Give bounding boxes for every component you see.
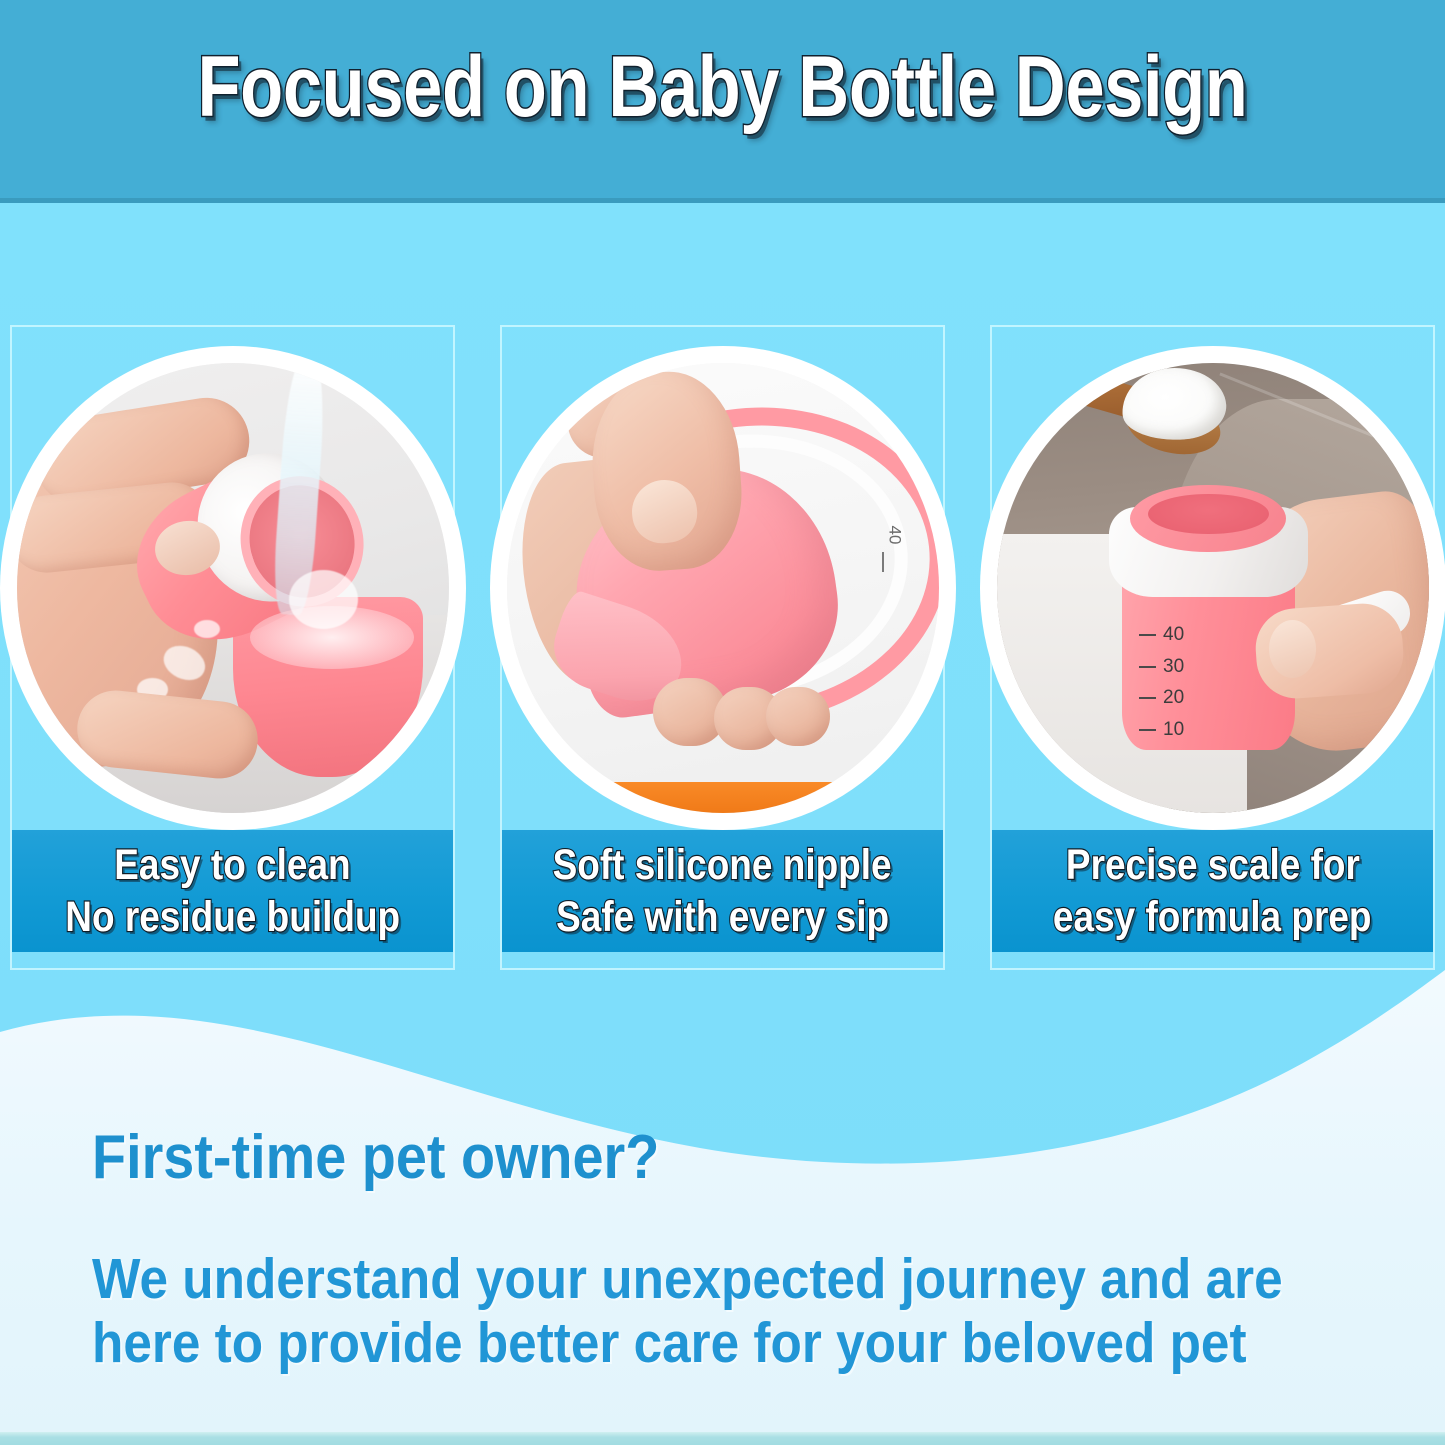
scene-formula-prep: 40 30 20 10 bbox=[997, 363, 1429, 813]
scale-mark-40: 40 bbox=[884, 526, 904, 545]
caption-line-2: easy formula prep bbox=[1053, 891, 1372, 943]
fingernail bbox=[1269, 620, 1317, 679]
footer-paragraph: We understand your unexpected journey an… bbox=[92, 1248, 1244, 1376]
footer-paragraph-line-2: here to provide better care for your bel… bbox=[92, 1312, 1244, 1376]
scale-row-20: 20 bbox=[1139, 687, 1269, 709]
bottom-accent-strip bbox=[0, 1432, 1445, 1445]
scale-row-10: 10 bbox=[1139, 719, 1269, 741]
scene-squeezing-nipple: 40 bbox=[507, 363, 939, 813]
caption-line-1: Precise scale for bbox=[1066, 839, 1360, 891]
scene-washing-bottle bbox=[17, 363, 449, 813]
scale-mark-value: 10 bbox=[1163, 719, 1184, 741]
measuring-scale: 40 30 20 10 bbox=[1139, 624, 1269, 741]
scale-tick-icon bbox=[1139, 666, 1156, 668]
feature-card-row: Easy to clean No residue buildup bbox=[0, 325, 1445, 985]
feature-card-precise-scale[interactable]: 40 30 20 10 bbox=[990, 325, 1435, 970]
scale-row-40: 40 bbox=[1139, 624, 1269, 646]
footer-paragraph-line-1: We understand your unexpected journey an… bbox=[92, 1248, 1244, 1312]
scale-tick-icon bbox=[1139, 697, 1156, 699]
caption-line-2: Safe with every sip bbox=[556, 891, 889, 943]
caption-line-1: Soft silicone nipple bbox=[553, 839, 892, 891]
water-splash bbox=[194, 620, 220, 638]
feature-photo-wrap-2: 40 bbox=[507, 363, 939, 813]
caption-bar-soft-nipple: Soft silicone nipple Safe with every sip bbox=[502, 830, 943, 952]
knuckle bbox=[766, 687, 831, 746]
scale-mark-value: 20 bbox=[1163, 687, 1184, 709]
scale-tick-icon bbox=[1139, 634, 1156, 636]
bottle-opening bbox=[1148, 494, 1269, 535]
scale-tick-line bbox=[882, 552, 884, 572]
feature-card-soft-nipple[interactable]: 40 Soft silicone nipple Safe with every … bbox=[500, 325, 945, 970]
photo-circle-soft-nipple: 40 bbox=[507, 363, 939, 813]
scale-mark-value: 30 bbox=[1163, 656, 1184, 678]
footer-heading: First-time pet owner? bbox=[92, 1125, 1244, 1190]
caption-line-1: Easy to clean bbox=[114, 839, 350, 891]
feature-card-easy-to-clean[interactable]: Easy to clean No residue buildup bbox=[10, 325, 455, 970]
orange-surface-strip bbox=[584, 782, 860, 814]
photo-circle-easy-to-clean bbox=[17, 363, 449, 813]
caption-bar-precise-scale: Precise scale for easy formula prep bbox=[992, 830, 1433, 952]
product-infographic: Focused on Baby Bottle Design bbox=[0, 0, 1445, 1445]
feature-photo-wrap-1 bbox=[17, 363, 449, 813]
caption-line-2: No residue buildup bbox=[65, 891, 400, 943]
caption-bar-easy-to-clean: Easy to clean No residue buildup bbox=[12, 830, 453, 952]
scale-row-30: 30 bbox=[1139, 656, 1269, 678]
water-splash bbox=[289, 570, 358, 629]
footer-copy: First-time pet owner? We understand your… bbox=[92, 1125, 1372, 1376]
photo-circle-precise-scale: 40 30 20 10 bbox=[997, 363, 1429, 813]
feature-photo-wrap-3: 40 30 20 10 bbox=[997, 363, 1429, 813]
scale-mark-value: 40 bbox=[1163, 624, 1184, 646]
scale-tick-icon bbox=[1139, 729, 1156, 731]
page-title: Focused on Baby Bottle Design bbox=[130, 44, 1315, 130]
header-band: Focused on Baby Bottle Design bbox=[0, 0, 1445, 203]
